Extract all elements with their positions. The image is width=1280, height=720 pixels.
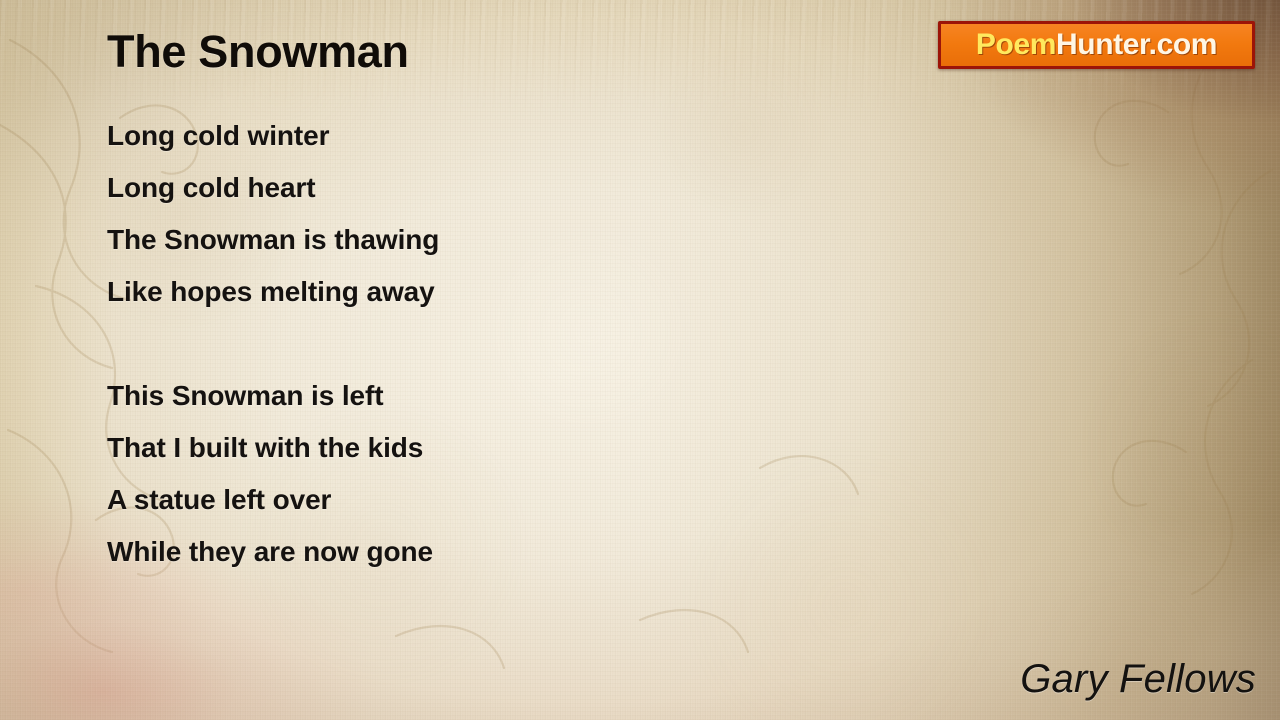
poem-title: The Snowman xyxy=(107,26,409,78)
poemhunter-wordmark: PoemHunter.com xyxy=(976,30,1217,60)
poem-line: Long cold winter xyxy=(107,110,867,162)
poem-line: That I built with the kids xyxy=(107,422,867,474)
poem-line: Long cold heart xyxy=(107,162,867,214)
poem-line: A statue left over xyxy=(107,474,867,526)
poemhunter-logo-badge[interactable]: PoemHunter.com xyxy=(938,21,1255,69)
poem-line: This Snowman is left xyxy=(107,370,867,422)
poem-content: The Snowman Long cold winter Long cold h… xyxy=(0,0,1280,720)
wordmark-poem-text: Poem xyxy=(976,28,1056,61)
poem-line: The Snowman is thawing xyxy=(107,214,867,266)
poem-line: While they are now gone xyxy=(107,526,867,578)
wordmark-hunter-text: Hunter.com xyxy=(1056,28,1217,61)
author-name: Gary Fellows xyxy=(1020,657,1256,702)
poem-image-card: The Snowman Long cold winter Long cold h… xyxy=(0,0,1280,720)
poem-line: Like hopes melting away xyxy=(107,266,867,318)
poem-stanza-break xyxy=(107,318,867,370)
poem-body: Long cold winter Long cold heart The Sno… xyxy=(107,110,867,578)
